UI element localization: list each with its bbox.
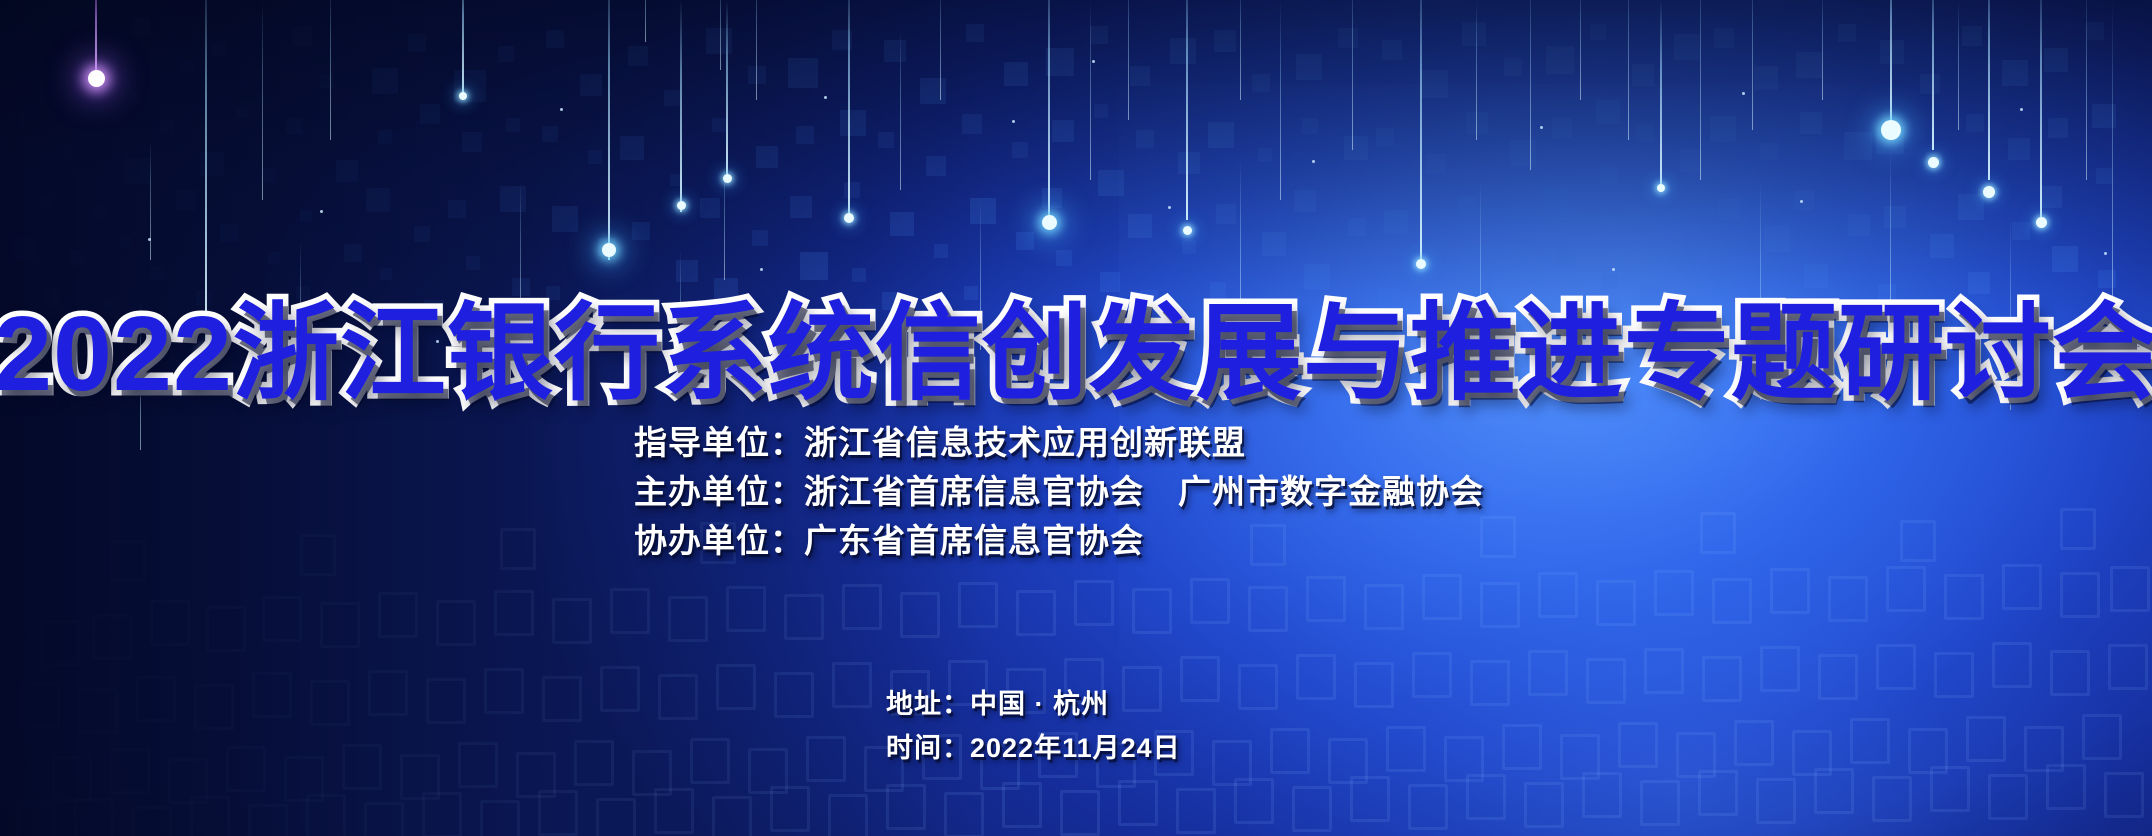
page-title: 2022浙江银行系统信创发展与推进专题研讨会 — [0, 267, 2152, 421]
organizer-line-guidance: 指导单位：浙江省信息技术应用创新联盟 — [634, 418, 1484, 467]
event-location: 地址：中国 · 杭州 — [886, 682, 1181, 726]
event-date: 时间：2022年11月24日 — [886, 726, 1181, 770]
event-info-block: 地址：中国 · 杭州 时间：2022年11月24日 — [886, 682, 1181, 770]
organizer-line-co-host: 协办单位：广东省首席信息官协会 — [634, 516, 1484, 565]
conference-poster: 2022浙江银行系统信创发展与推进专题研讨会 指导单位：浙江省信息技术应用创新联… — [0, 0, 2152, 836]
organizer-line-host: 主办单位：浙江省首席信息官协会 广州市数字金融协会 — [634, 467, 1484, 516]
organizer-block: 指导单位：浙江省信息技术应用创新联盟 主办单位：浙江省首席信息官协会 广州市数字… — [634, 418, 1484, 565]
